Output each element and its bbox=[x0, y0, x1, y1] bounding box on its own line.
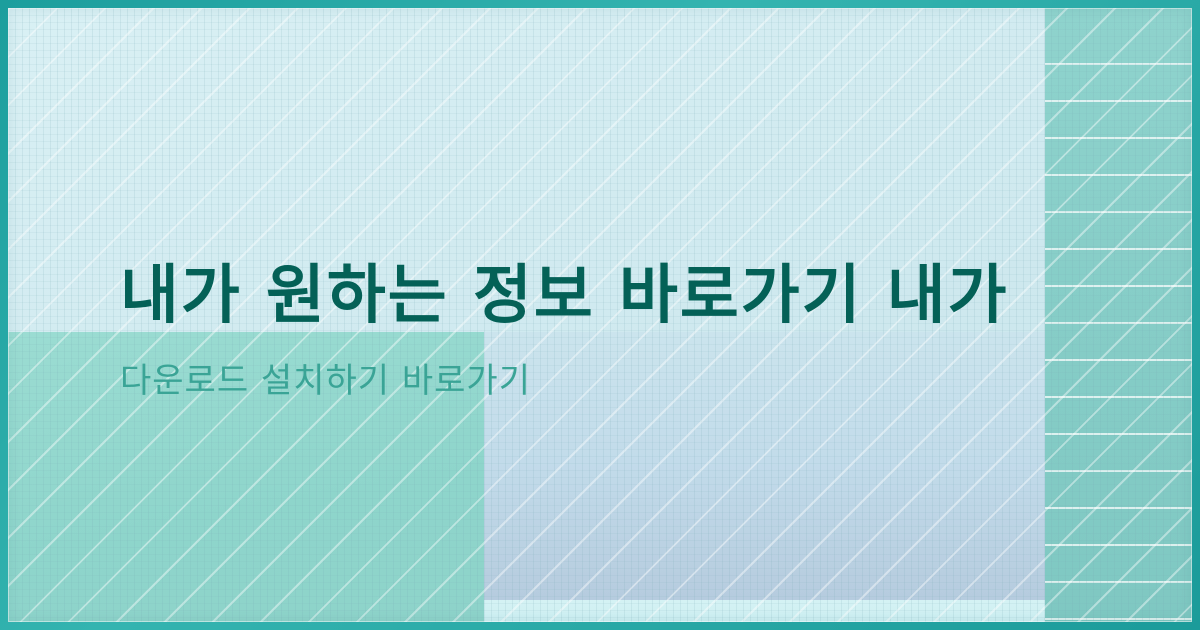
rule-lines bbox=[1045, 8, 1192, 622]
lined-note-panel bbox=[1045, 8, 1192, 622]
banner-inner-canvas: 내가 원하는 정보 바로가기 내가 다운로드 설치하기 바로가기 bbox=[8, 8, 1192, 622]
promo-banner: 내가 원하는 정보 바로가기 내가 다운로드 설치하기 바로가기 bbox=[0, 0, 1200, 630]
background-left-lower-panel bbox=[8, 332, 484, 622]
